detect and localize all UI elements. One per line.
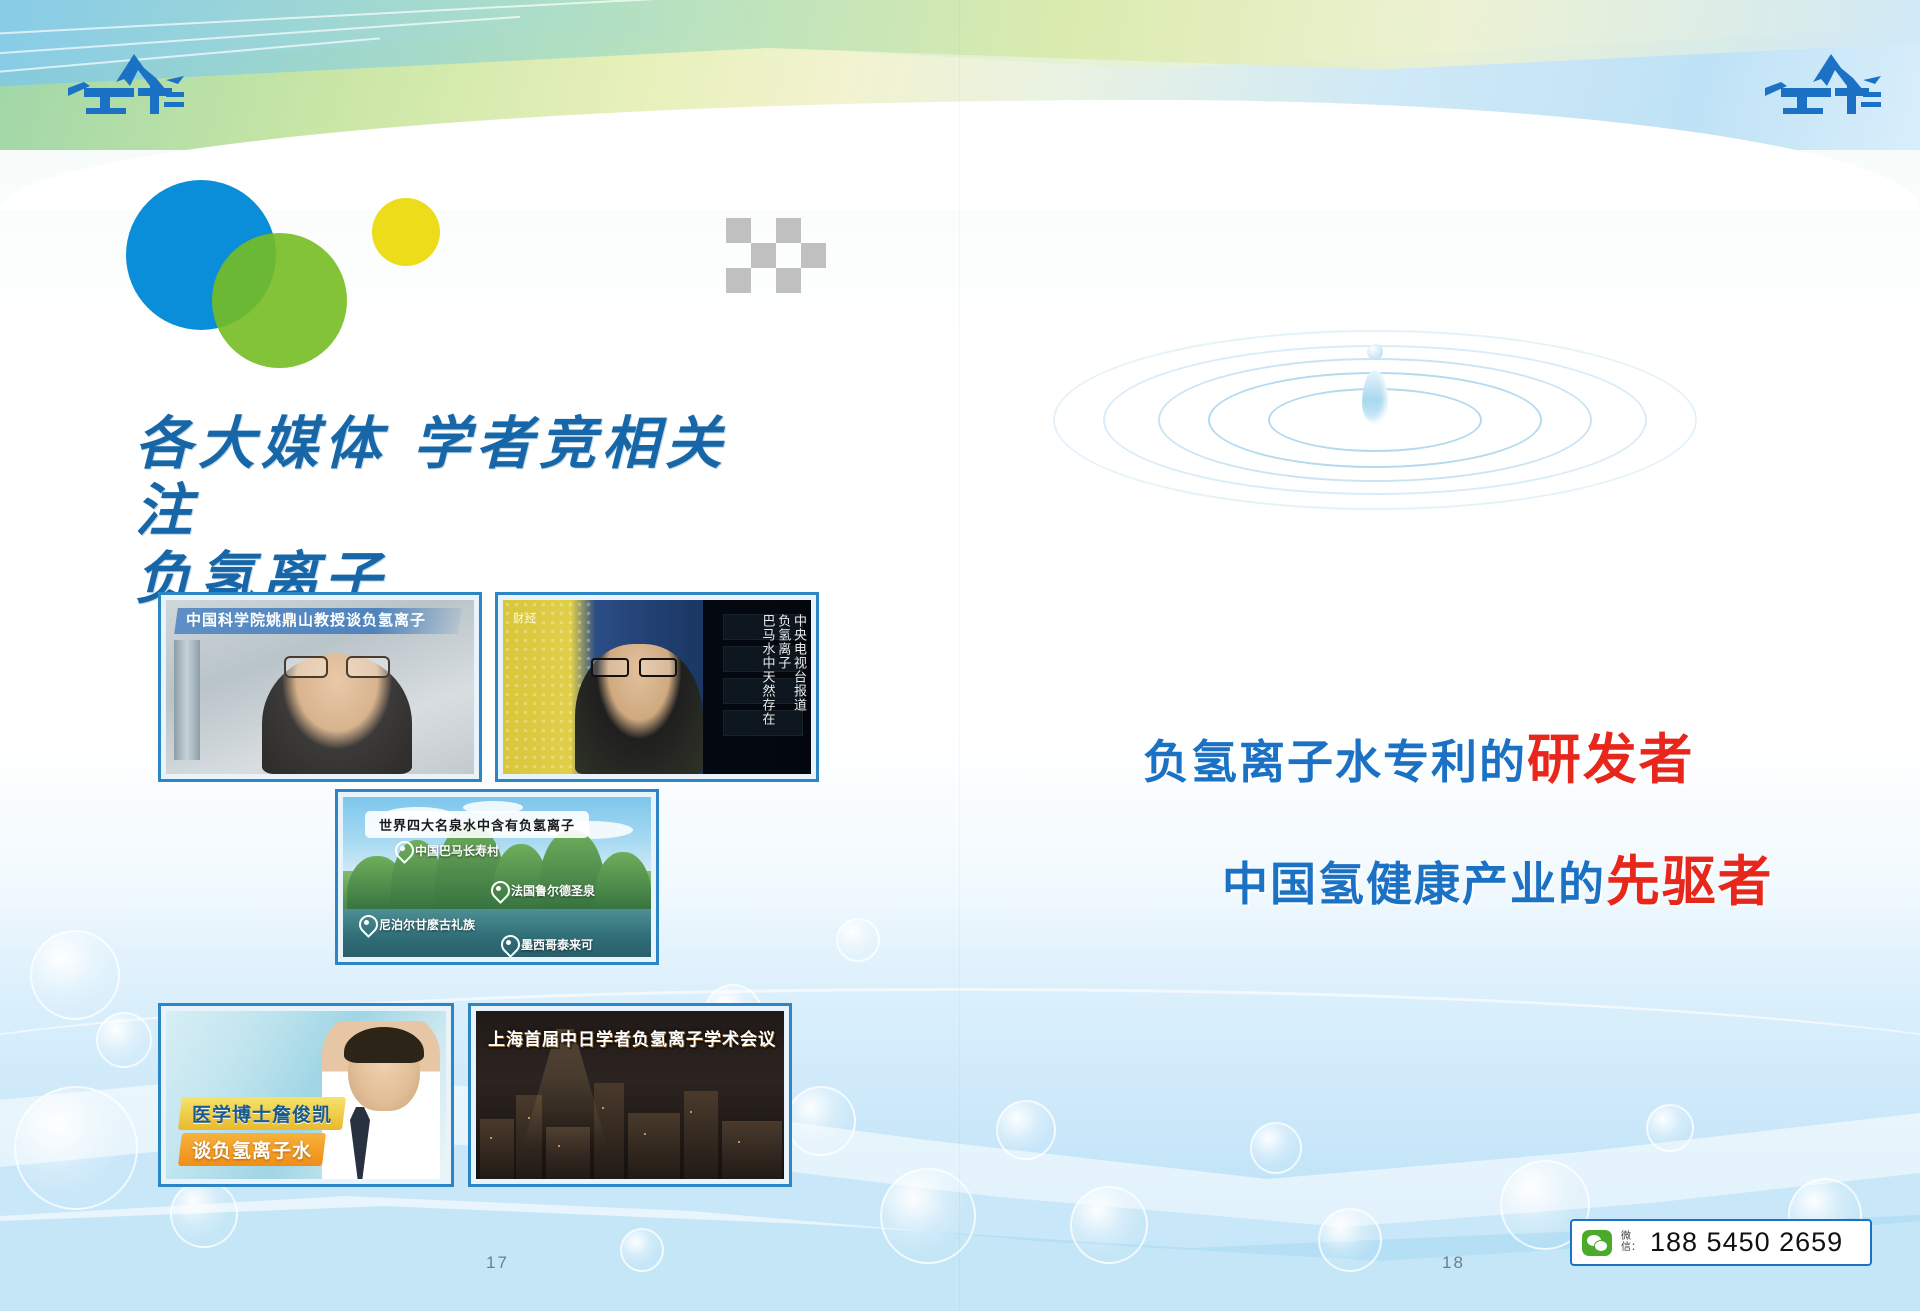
photo-caption: 中国科学院姚鼎山教授谈负氢离子 (174, 608, 462, 634)
photo-cctv-report[interactable]: 财经 中央电视台报道 负氢离子 巴马水中天然存在 (495, 592, 819, 782)
page-number-right: 18 (1442, 1253, 1465, 1273)
decor-circle-yellow (372, 198, 440, 266)
water-drop-illustration (1055, 270, 1695, 520)
slogan-blue-text: 中国氢健康产业的 (1222, 857, 1606, 911)
mountain-logo (38, 52, 188, 114)
bubble-decor (836, 918, 880, 962)
location-pin-icon (491, 881, 506, 900)
photo-caption: 上海首届中日学者负氢离子学术会议 (476, 1021, 784, 1054)
bubble-decor (1646, 1104, 1694, 1152)
photo-vertical-caption-1: 中央电视台报道 (791, 614, 805, 764)
location-pin-icon (395, 841, 410, 860)
map-pin-2: 法国鲁尔德圣泉 (491, 881, 595, 900)
bubble-decor (620, 1228, 664, 1272)
wechat-icon (1582, 1230, 1612, 1256)
bubble-decor (1318, 1208, 1382, 1272)
location-pin-icon (501, 935, 516, 954)
brochure-spread: 各大媒体 学者竞相关注 负氢离子 中国科学院姚鼎山教授谈负氢离子 财经 中央电 (0, 0, 1920, 1311)
glasses-icon (284, 656, 390, 674)
glasses-icon (591, 658, 677, 673)
page-title-line-1: 各大媒体 学者竞相关注 (135, 410, 728, 544)
location-pin-icon (359, 915, 374, 934)
photo-caption: 世界四大名泉水中含有负氢离子 (365, 811, 589, 838)
page-fold-line (959, 0, 960, 1311)
photo-prop-pipe (174, 640, 200, 760)
slogan-red-text: 研发者 (1527, 728, 1694, 791)
bubble-decor (1070, 1186, 1148, 1264)
bubble-decor (14, 1086, 138, 1210)
map-pin-4: 墨西哥泰来可 (501, 935, 593, 954)
photo-caption-line-2: 谈负氢离子水 (178, 1133, 326, 1166)
photo-vertical-caption-3: 巴马水中天然存在 (760, 614, 774, 764)
slogan-blue-text: 负氢离子水专利的 (1143, 735, 1527, 789)
slogan-developer: 负氢离子水专利的研发者 (1143, 716, 1694, 794)
bubble-decor (1250, 1122, 1302, 1174)
photo-doctor-interview[interactable]: 医学博士詹俊凯 谈负氢离子水 (158, 1003, 454, 1187)
photo-four-springs-map[interactable]: 世界四大名泉水中含有负氢离子 中国巴马长寿村 法国鲁尔德圣泉 尼泊尔甘麽古礼族 … (335, 789, 659, 965)
bubble-decor (996, 1100, 1056, 1160)
photo-vertical-captions: 中央电视台报道 负氢离子 巴马水中天然存在 (760, 614, 805, 764)
bubble-decor (786, 1086, 856, 1156)
bubble-decor (880, 1168, 976, 1264)
map-pin-1: 中国巴马长寿村 (395, 841, 499, 860)
bubble-decor (96, 1012, 152, 1068)
contact-bar[interactable]: 微信： 188 5450 2659 (1570, 1219, 1872, 1266)
water-droplet-small (1367, 344, 1383, 360)
map-pin-3: 尼泊尔甘麽古礼族 (359, 915, 475, 934)
slogan-red-text: 先驱者 (1606, 850, 1773, 913)
mountain-logo (1735, 52, 1885, 114)
photo-academic-conference[interactable]: 上海首届中日学者负氢离子学术会议 (468, 1003, 792, 1187)
phone-number[interactable]: 188 5450 2659 (1650, 1227, 1843, 1258)
bubble-decor (170, 1180, 238, 1248)
page-title: 各大媒体 学者竞相关注 负氢离子 (135, 410, 775, 612)
photo-caption-line-1: 医学博士詹俊凯 (178, 1097, 346, 1130)
wechat-label: 微信： (1621, 1232, 1641, 1253)
channel-logo: 财经 (513, 610, 537, 626)
bubble-decor (30, 930, 120, 1020)
decor-circle-green (212, 233, 347, 368)
slogan-pioneer: 中国氢健康产业的先驱者 (1222, 838, 1773, 916)
page-number-left: 17 (486, 1253, 509, 1273)
night-city-skyline (476, 1055, 784, 1179)
photo-professor-interview[interactable]: 中国科学院姚鼎山教授谈负氢离子 (158, 592, 482, 782)
photo-vertical-caption-2: 负氢离子 (775, 614, 789, 764)
